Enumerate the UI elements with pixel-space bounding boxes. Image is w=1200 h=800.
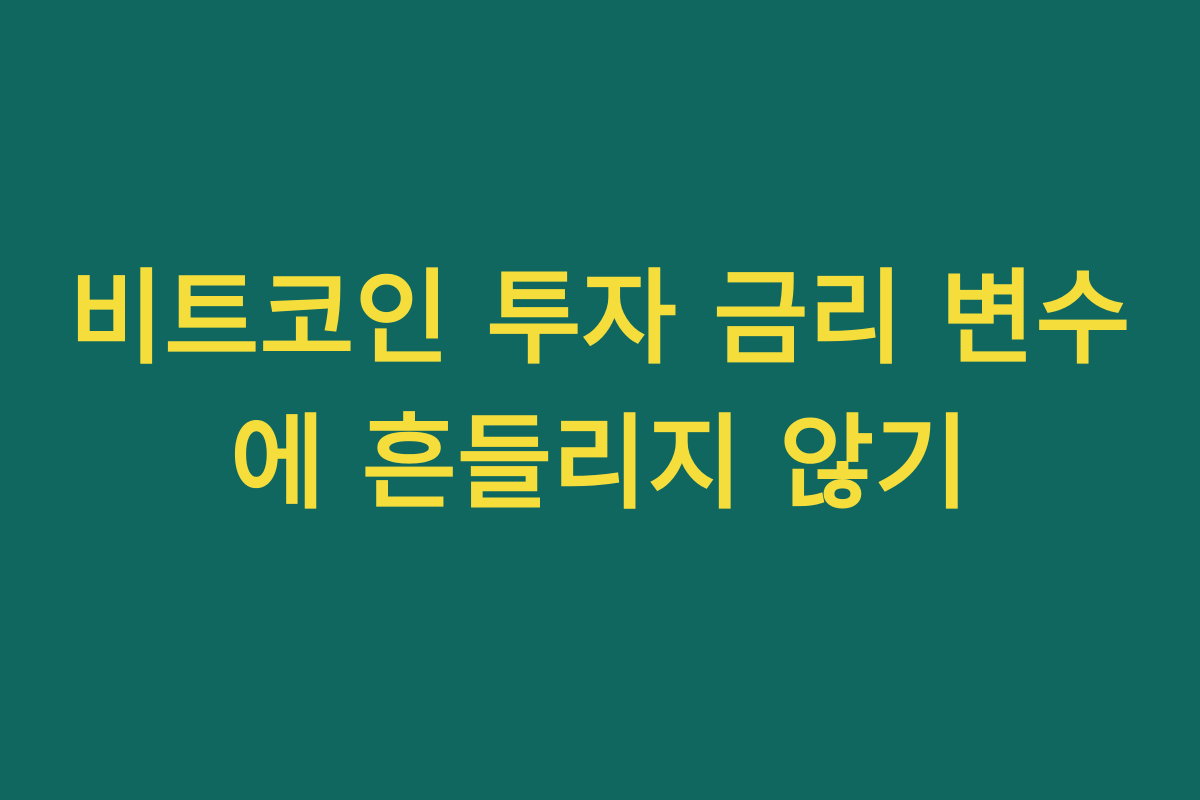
thumbnail-card: 비트코인 투자 금리 변수 에 흔들리지 않기 bbox=[0, 0, 1200, 800]
headline-line-2: 에 흔들리지 않기 bbox=[50, 392, 1150, 537]
headline-block: 비트코인 투자 금리 변수 에 흔들리지 않기 bbox=[50, 247, 1150, 537]
headline-line-1: 비트코인 투자 금리 변수 bbox=[50, 247, 1150, 392]
